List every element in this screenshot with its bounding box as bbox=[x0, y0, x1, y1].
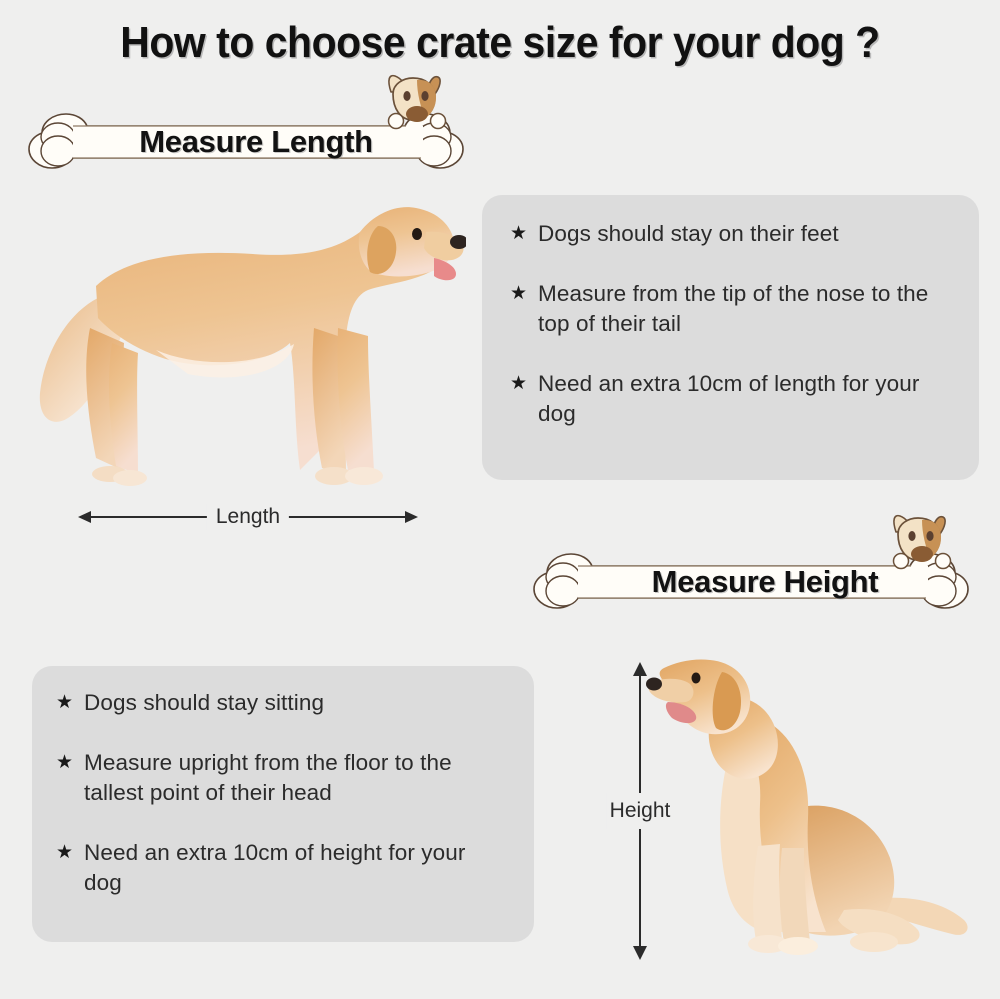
star-icon: ★ bbox=[510, 369, 527, 399]
page-title: How to choose crate size for your dog ? bbox=[35, 18, 965, 68]
list-item-text: Dogs should stay on their feet bbox=[538, 219, 839, 249]
height-arrow-label: Height bbox=[607, 793, 674, 829]
star-icon: ★ bbox=[56, 688, 73, 718]
height-bullet-list: ★ Dogs should stay sitting ★ Measure upr… bbox=[32, 666, 534, 942]
list-item: ★ Dogs should stay sitting bbox=[56, 688, 500, 718]
star-icon: ★ bbox=[56, 838, 73, 868]
height-info-panel: ★ Dogs should stay sitting ★ Measure upr… bbox=[32, 666, 534, 942]
star-icon: ★ bbox=[56, 748, 73, 778]
list-item: ★ Need an extra 10cm of length for your … bbox=[510, 369, 945, 429]
length-measure-arrow: Length bbox=[78, 495, 418, 539]
list-item-text: Measure upright from the floor to the ta… bbox=[84, 748, 500, 808]
list-item: ★ Measure from the tip of the nose to th… bbox=[510, 279, 945, 339]
list-item-text: Dogs should stay sitting bbox=[84, 688, 324, 718]
star-icon: ★ bbox=[510, 279, 527, 309]
length-arrow-label: Length bbox=[207, 504, 289, 530]
length-info-panel: ★ Dogs should stay on their feet ★ Measu… bbox=[482, 195, 979, 480]
dog-head-icon bbox=[371, 72, 451, 140]
list-item-text: Need an extra 10cm of height for your do… bbox=[84, 838, 500, 898]
dog-sitting-photo bbox=[646, 648, 976, 963]
infographic-page: How to choose crate size for your dog ? bbox=[0, 0, 1000, 999]
list-item-text: Need an extra 10cm of length for your do… bbox=[538, 369, 945, 429]
star-icon: ★ bbox=[510, 219, 527, 249]
dog-head-icon bbox=[876, 512, 956, 580]
length-bullet-list: ★ Dogs should stay on their feet ★ Measu… bbox=[482, 195, 979, 480]
dog-standing-photo bbox=[38, 178, 466, 498]
list-item: ★ Need an extra 10cm of height for your … bbox=[56, 838, 500, 898]
list-item: ★ Measure upright from the floor to the … bbox=[56, 748, 500, 808]
list-item-text: Measure from the tip of the nose to the … bbox=[538, 279, 945, 339]
height-measure-arrow: Height bbox=[600, 662, 680, 960]
list-item: ★ Dogs should stay on their feet bbox=[510, 219, 945, 249]
